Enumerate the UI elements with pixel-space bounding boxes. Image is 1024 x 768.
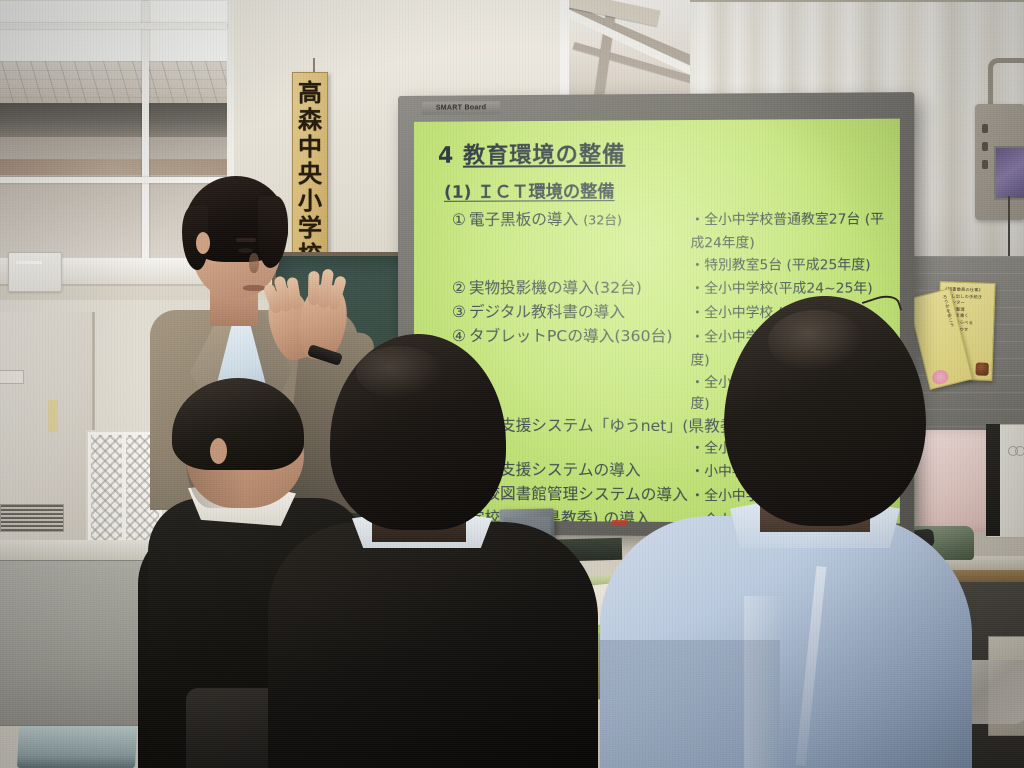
window-mullion-horizontal-2 [0, 177, 227, 183]
classroom-photo: 高 森 中 央 小 学 校 《図書委員の仕事》 ○貸し出しの手続き カウンター … [0, 0, 1024, 768]
wall-speaker-box [8, 252, 62, 292]
room-door[interactable] [0, 312, 95, 550]
bracket-cable [1008, 196, 1010, 260]
door-label-strip [48, 400, 58, 432]
slide-item-count: (32台) [583, 212, 622, 227]
door-vent [0, 504, 64, 532]
attendee-a-ear [210, 438, 227, 464]
slide-item-marker: ③ [452, 303, 466, 321]
bracket-hole-1 [982, 124, 988, 133]
slide-subtitle: (1) ＩＣＴ環境の整備 [444, 176, 890, 203]
banner-char-2: 森 [298, 106, 322, 133]
presenter-eyebrow [236, 238, 256, 242]
slide-item-subnote: ・特別教室5台 (平成25年度) [691, 255, 890, 277]
slide-item-left: ①電子黒板の導入 (32台) [452, 208, 690, 232]
bracket-mounted-panel [994, 146, 1024, 200]
slide-item: ①電子黒板の導入 (32台) ・全小中学校普通教室27台 (平成24年度) [452, 207, 890, 256]
tray-marker-pen [612, 520, 628, 525]
curtain-rail [690, 0, 1024, 2]
bracket-hole-2 [982, 142, 988, 151]
slide-item-left: ④タブレットPCの導入(360台) [452, 325, 690, 348]
banner-hook [313, 58, 315, 72]
slide-item-text: 電子黒板の導入 [469, 210, 578, 228]
slide-item-marker: ② [452, 279, 466, 297]
attendee-b-hair-highlight [356, 346, 442, 398]
window-shade-band [0, 103, 227, 137]
slide-subtitle-text: (1) ＩＣＴ環境の整備 [444, 182, 615, 203]
banner-char-4: 央 [298, 160, 322, 187]
foreground-table [17, 726, 137, 768]
pc-tower-drive-bay [986, 424, 1000, 536]
bracket-hole-3 [982, 160, 988, 169]
slide-item-marker: ④ [452, 327, 466, 345]
presenter-ear [196, 232, 210, 254]
attendee-c-hair-highlight [768, 310, 864, 372]
slide-title: 4 教育環境の整備 [438, 135, 890, 170]
slide-item-marker: ① [452, 211, 466, 229]
presenter-mouth [243, 285, 265, 291]
banner-char-5: 小 [298, 187, 322, 214]
slide-item-left: ③デジタル教科書の導入 [452, 301, 690, 324]
pc-tower-logo [1008, 446, 1024, 455]
smart-board-brand-text: SMART Board [436, 104, 487, 111]
presenter-eye [238, 248, 253, 253]
window-roof-view [0, 61, 227, 105]
slide-item-text: タブレットPCの導入(360台) [469, 327, 672, 345]
banner-char-3: 中 [298, 133, 322, 160]
window-mullion-vertical [142, 1, 149, 269]
lattice-divider [122, 432, 126, 550]
slide-title-text: 教育環境の整備 [463, 143, 625, 169]
slide-item-text: 学校図書館管理システムの導入 [469, 484, 688, 503]
door-plate [0, 370, 24, 384]
attendee-b-torso [268, 522, 598, 768]
smart-board-logo: SMART Board [422, 101, 500, 115]
slide-item-text: 実物投影機の導入(32台) [469, 279, 642, 297]
window-mullion-horizontal [0, 23, 227, 29]
slide-title-number: 4 [438, 144, 454, 169]
slide-item-note: ・全小中学校(平成24~25年) [691, 277, 873, 300]
banner-char-1: 高 [298, 79, 322, 106]
banner-char-6: 学 [298, 214, 322, 241]
presenter-nose [249, 253, 259, 273]
slide-item-left: ②実物投影機の導入(32台) [452, 277, 690, 300]
attendee-c-shoulder-shadow [600, 640, 780, 768]
slide-item-text: デジタル教科書の導入 [469, 303, 625, 321]
poster-illustration-badge [975, 362, 988, 375]
school-name-banner: 高 森 中 央 小 学 校 [292, 72, 328, 276]
slide-item-note: ・全小中学校普通教室27台 (平成24年度) [691, 208, 890, 255]
